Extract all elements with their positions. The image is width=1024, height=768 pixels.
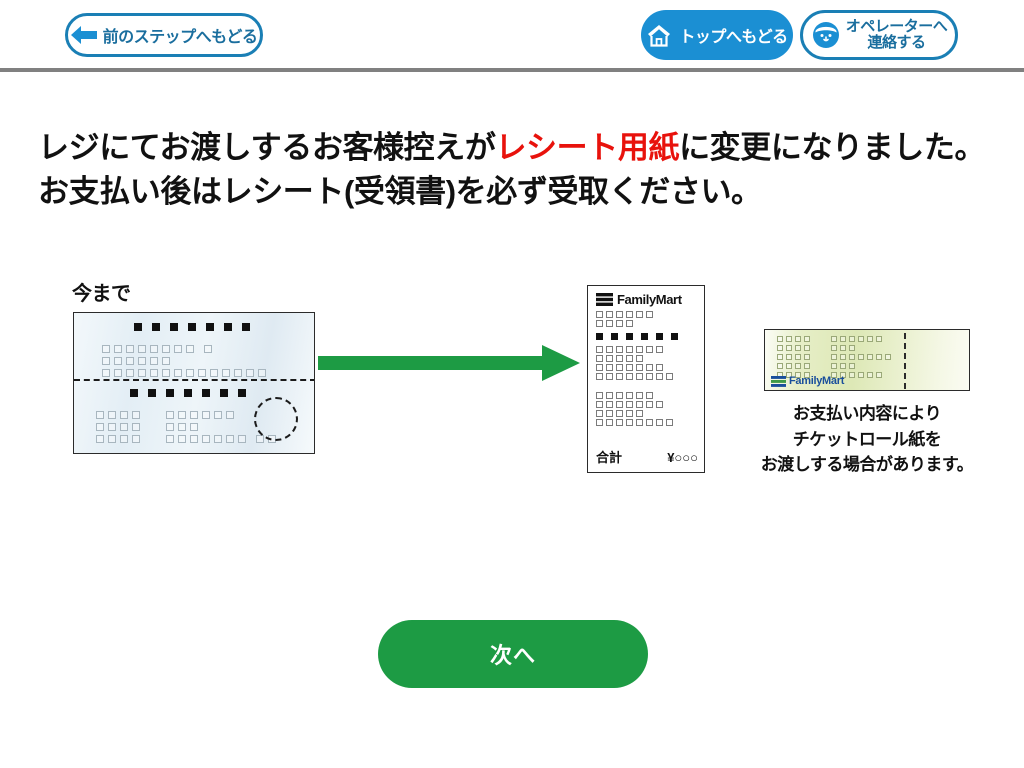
- ticket-text-row: [777, 345, 858, 351]
- next-button[interactable]: 次へ: [378, 620, 648, 688]
- receipt-text-row: [596, 320, 696, 327]
- receipt-text-row: [596, 355, 696, 362]
- arrow-left-icon: [71, 25, 97, 45]
- headline-line-1: レジにてお渡しするお客様控えがレシート用紙に変更になりました。: [38, 126, 998, 170]
- headline-line1-part2: に変更になりました。: [679, 130, 985, 165]
- ticket-perforation-line: [904, 333, 906, 389]
- page-title: レジにてお渡しするお客様控えがレシート用紙に変更になりました。 お支払い後はレシ…: [38, 126, 998, 214]
- receipt-total-amount: ¥○○○: [667, 450, 698, 465]
- contact-operator-label: オペレーターへ 連絡する: [846, 19, 948, 51]
- home-icon: [646, 22, 672, 48]
- familymart-logo-color-icon: FamilyMart: [771, 375, 844, 387]
- back-to-previous-step-button[interactable]: 前のステップへもどる: [65, 13, 263, 57]
- headline-accent-text: レシート用紙: [495, 130, 679, 165]
- receipt-text-row: [596, 373, 696, 380]
- old-slip-marks-bottom: [130, 389, 256, 397]
- back-to-top-label: トップへもどる: [679, 23, 787, 47]
- familymart-logo-mono-icon: FamilyMart: [596, 292, 696, 307]
- receipt-total-label: 合計: [596, 447, 622, 466]
- ticket-roll-caption: お支払い内容により チケットロール紙を お渡しする場合があります。: [757, 401, 977, 478]
- headline-line-2: お支払い後はレシート(受領書)を必ず受取ください。: [38, 170, 998, 214]
- receipt-text-row: [596, 419, 696, 426]
- ticket-text-row: [777, 354, 894, 360]
- contact-operator-button[interactable]: オペレーターへ 連絡する: [800, 10, 958, 60]
- receipt-text-row: [596, 392, 696, 399]
- ticket-caption-line1: お支払い内容により: [757, 401, 977, 427]
- old-slip-text-row: [96, 435, 280, 443]
- receipt-text-row: [596, 311, 696, 318]
- ticket-roll-illustration: FamilyMart: [764, 329, 970, 391]
- ticket-text-row: [777, 336, 885, 342]
- receipt-text-row: [596, 410, 696, 417]
- old-slip-marks-top: [134, 323, 260, 331]
- transition-arrow-icon: [318, 345, 580, 381]
- old-slip-text-row: [102, 357, 174, 365]
- operator-icon: [811, 20, 841, 50]
- old-slip-text-row: [102, 345, 216, 353]
- back-to-top-button[interactable]: トップへもどる: [641, 10, 793, 60]
- headline-line1-part1: レジにてお渡しするお客様控えが: [38, 130, 495, 165]
- receipt-brand-name: FamilyMart: [617, 292, 682, 307]
- ticket-text-row: [777, 363, 858, 369]
- contact-operator-label-line1: オペレーターへ: [846, 18, 948, 35]
- before-label: 今まで: [72, 277, 131, 306]
- receipt-text-row: [596, 346, 696, 353]
- next-button-label: 次へ: [490, 638, 536, 670]
- receipt-text-row: [596, 401, 696, 408]
- header-bar: 前のステップへもどる トップへもどる オペレーターへ 連絡する: [0, 0, 1024, 70]
- ticket-caption-line3: お渡しする場合があります。: [757, 452, 977, 478]
- ticket-caption-line2: チケットロール紙を: [757, 427, 977, 453]
- old-slip-text-row: [96, 411, 238, 419]
- receipt-text-row: [596, 364, 696, 371]
- header-divider: [0, 68, 1024, 72]
- new-receipt-illustration: FamilyMart 合計 ¥○○○: [587, 285, 705, 473]
- ticket-brand-name: FamilyMart: [789, 375, 844, 387]
- contact-operator-label-line2: 連絡する: [867, 34, 925, 51]
- receipt-total-line: 合計 ¥○○○: [596, 447, 698, 466]
- stamp-area-circle: [254, 397, 298, 441]
- old-slip-text-row: [96, 423, 202, 431]
- receipt-marks-row: [596, 333, 696, 340]
- old-slip-text-row: [102, 369, 270, 377]
- back-to-previous-step-label: 前のステップへもどる: [103, 23, 258, 47]
- perforation-line: [74, 379, 315, 381]
- old-slip-illustration: [73, 312, 315, 454]
